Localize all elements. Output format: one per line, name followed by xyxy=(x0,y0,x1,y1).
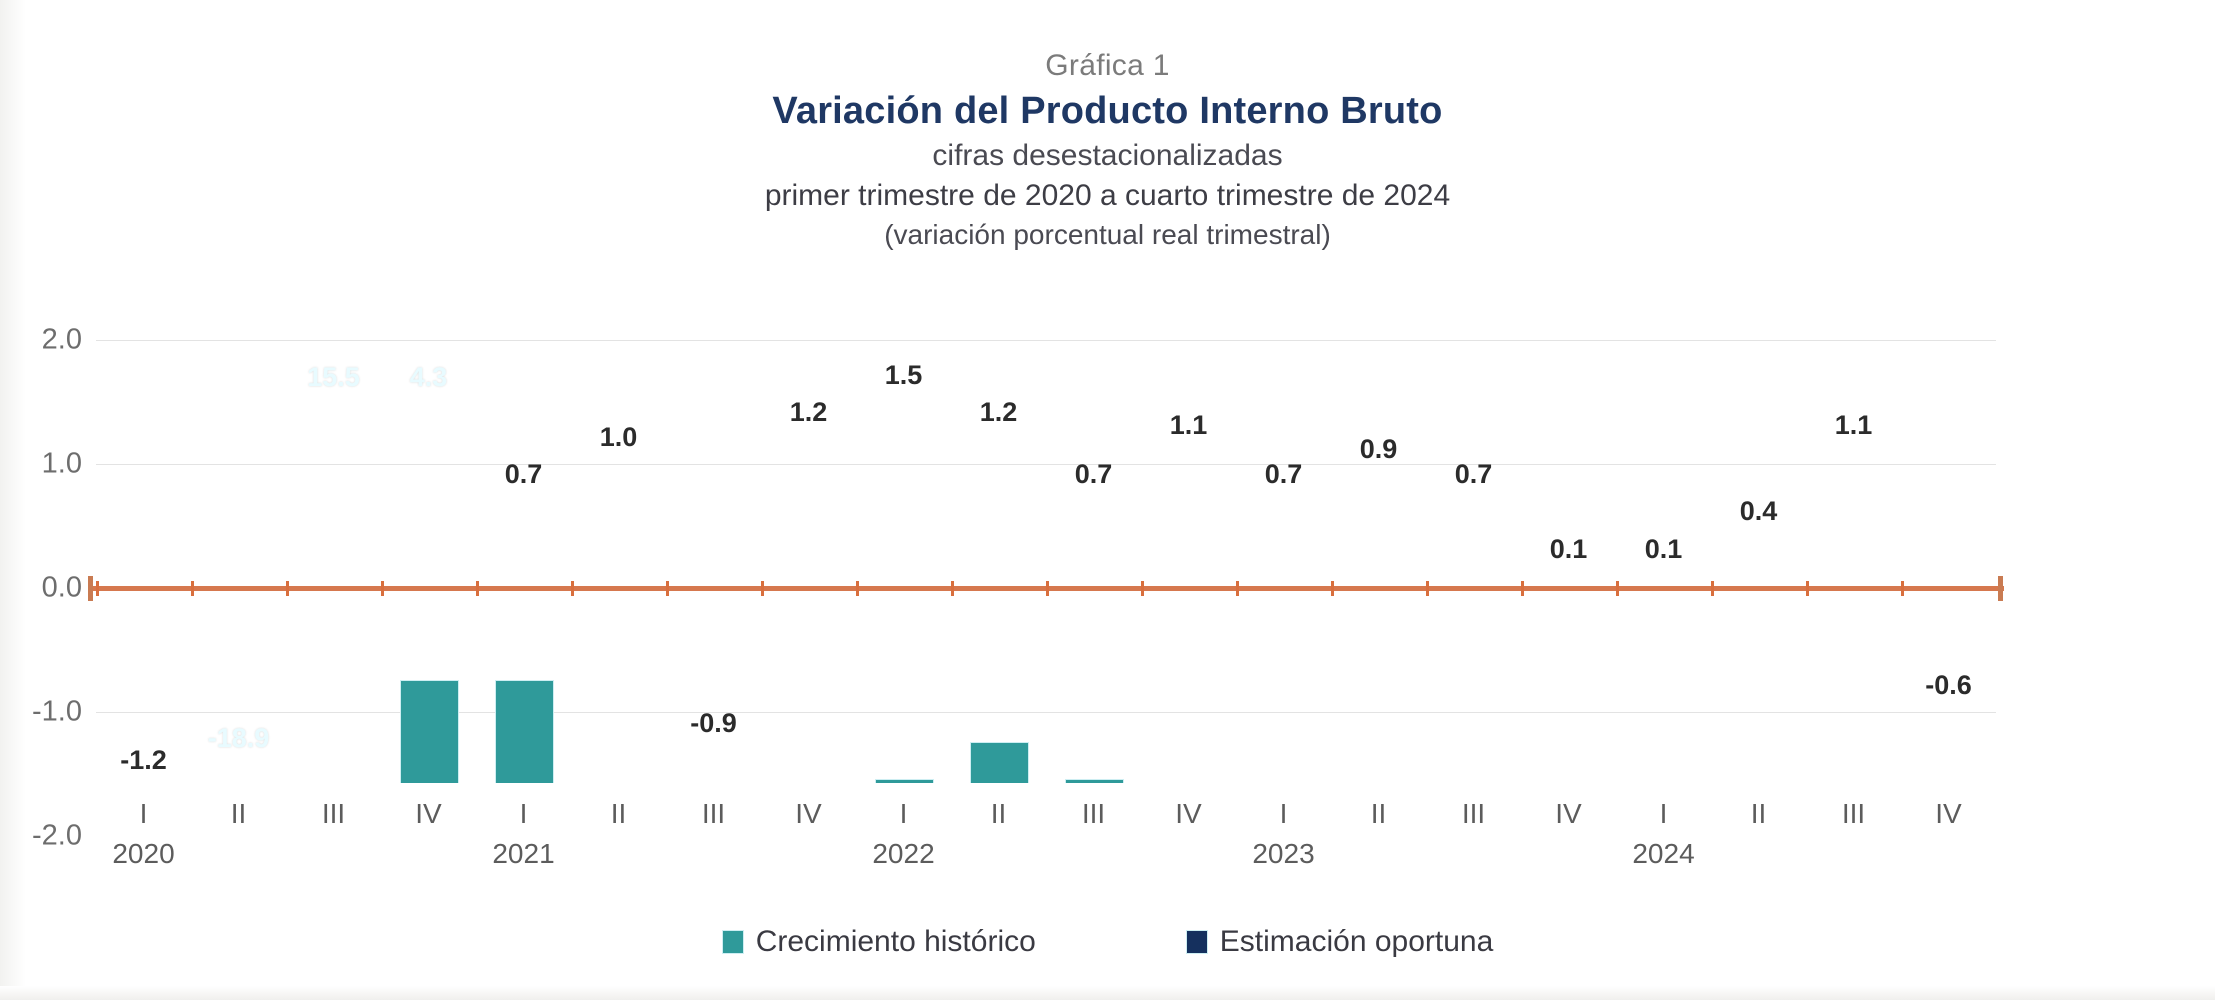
x-axis-quarter-4: I xyxy=(520,798,528,830)
x-axis-quarter-1: II xyxy=(231,798,247,830)
zero-tick-12 xyxy=(1236,581,1239,596)
legend-estimacion[interactable]: Estimación oportuna xyxy=(1186,925,1494,959)
figure-label: Gráfica 1 xyxy=(0,46,2215,86)
zero-tick-19 xyxy=(1901,581,1904,596)
bar-ii-2022[interactable] xyxy=(1065,779,1125,783)
x-axis-quarter-18: III xyxy=(1842,798,1865,830)
legend-swatch-icon-0 xyxy=(722,930,744,954)
y-axis-tick-3: -1.0 xyxy=(0,696,82,729)
value-label-iii-2023: 0.7 xyxy=(1455,459,1493,490)
value-label-ii-2023: 0.9 xyxy=(1360,434,1398,465)
zero-tick-6 xyxy=(666,581,669,596)
value-label-i-2022: 1.5 xyxy=(885,360,923,391)
bar-iii-2020[interactable] xyxy=(400,680,460,783)
zero-tick-18 xyxy=(1806,581,1809,596)
zero-tick-5 xyxy=(571,581,574,596)
value-label-ii-2021: 1.0 xyxy=(600,422,638,453)
zero-tick-11 xyxy=(1141,581,1144,596)
gdp-variation-chart: Gráfica 1 Variación del Producto Interno… xyxy=(0,0,2215,1000)
value-label-iii-2020: 15.5 xyxy=(307,362,360,393)
x-axis-quarter-19: IV xyxy=(1935,798,1961,830)
x-axis-year-2024: 2024 xyxy=(1632,838,1694,870)
value-label-iii-2022: 0.7 xyxy=(1075,459,1113,490)
y-axis-tick-0: 2.0 xyxy=(0,324,82,357)
x-axis-quarter-9: II xyxy=(991,798,1007,830)
legend-swatch-icon-1 xyxy=(1186,930,1208,954)
value-label-ii-2024: 0.4 xyxy=(1740,496,1778,527)
value-label-iii-2021: -0.9 xyxy=(690,708,737,739)
value-label-ii-2022: 1.2 xyxy=(980,397,1018,428)
value-label-ii-2020: -18.9 xyxy=(208,723,270,754)
x-axis-labels: IIIIIIIVIIIIIIIVIIIIIIIVIIIIIIIVIIIIIIIV… xyxy=(96,798,1996,888)
legend-label-1: Estimación oportuna xyxy=(1220,925,1494,959)
chart-subtitle-1: cifras desestacionalizadas xyxy=(0,136,2215,176)
x-axis-quarter-12: I xyxy=(1280,798,1288,830)
value-label-i-2020: -1.2 xyxy=(120,745,167,776)
bar-iv-2020[interactable] xyxy=(495,680,555,783)
zero-tick-10 xyxy=(1046,581,1049,596)
x-axis-quarter-11: IV xyxy=(1175,798,1201,830)
value-label-iv-2023: 0.1 xyxy=(1550,534,1588,565)
zero-tick-9 xyxy=(951,581,954,596)
x-axis-year-2023: 2023 xyxy=(1252,838,1314,870)
x-axis-quarter-8: I xyxy=(900,798,908,830)
zero-tick-2 xyxy=(286,581,289,596)
zero-tick-7 xyxy=(761,581,764,596)
y-axis-tick-2: 0.0 xyxy=(0,572,82,605)
x-axis-quarter-3: IV xyxy=(415,798,441,830)
x-axis-quarter-10: III xyxy=(1082,798,1105,830)
value-label-iv-2024: -0.6 xyxy=(1925,670,1972,701)
zero-tick-3 xyxy=(381,581,384,596)
x-axis-quarter-13: II xyxy=(1371,798,1387,830)
legend-historico[interactable]: Crecimiento histórico xyxy=(722,925,1036,959)
zero-tick-8 xyxy=(856,581,859,596)
x-axis-quarter-15: IV xyxy=(1555,798,1581,830)
zero-tick-14 xyxy=(1426,581,1429,596)
zero-tick-4 xyxy=(476,581,479,596)
zero-tick-1 xyxy=(191,581,194,596)
zero-tick-13 xyxy=(1331,581,1334,596)
x-axis-quarter-17: II xyxy=(1751,798,1767,830)
chart-legend: Crecimiento históricoEstimación oportuna xyxy=(0,925,2215,959)
zero-tick-17 xyxy=(1711,581,1714,596)
chart-main-title: Variación del Producto Interno Bruto xyxy=(0,86,2215,136)
legend-label-0: Crecimiento histórico xyxy=(756,925,1036,959)
zero-line-cap-0 xyxy=(88,576,93,601)
chart-subtitle-2: primer trimestre de 2020 a cuarto trimes… xyxy=(0,176,2215,216)
y-axis-labels: 2.01.00.0-1.0-2.0 xyxy=(0,340,82,783)
value-label-iii-2024: 1.1 xyxy=(1835,410,1873,441)
chart-subtitle-3: (variación porcentual real trimestral) xyxy=(0,216,2215,254)
x-axis-quarter-14: III xyxy=(1462,798,1485,830)
chart-title-block: Gráfica 1 Variación del Producto Interno… xyxy=(0,46,2215,254)
x-axis-year-2022: 2022 xyxy=(872,838,934,870)
x-axis-quarter-6: III xyxy=(702,798,725,830)
value-label-i-2024: 0.1 xyxy=(1645,534,1683,565)
value-label-iv-2022: 1.1 xyxy=(1170,410,1208,441)
x-axis-quarter-5: II xyxy=(611,798,627,830)
plot-bars-clip xyxy=(96,340,1996,783)
zero-tick-0 xyxy=(96,581,99,596)
x-axis-quarter-7: IV xyxy=(795,798,821,830)
bar-series-layer xyxy=(192,680,1996,783)
value-label-i-2021: 0.7 xyxy=(505,459,543,490)
zero-tick-16 xyxy=(1616,581,1619,596)
y-axis-tick-4: -2.0 xyxy=(0,820,82,853)
x-axis-year-2021: 2021 xyxy=(492,838,554,870)
x-axis-quarter-16: I xyxy=(1660,798,1668,830)
x-axis-quarter-2: III xyxy=(322,798,345,830)
x-axis-quarter-0: I xyxy=(140,798,148,830)
zero-tick-15 xyxy=(1521,581,1524,596)
value-label-iv-2020: 4.3 xyxy=(410,362,448,393)
value-label-iv-2021: 1.2 xyxy=(790,397,828,428)
x-axis-year-2020: 2020 xyxy=(112,838,174,870)
value-label-i-2023: 0.7 xyxy=(1265,459,1303,490)
bar-i-2022[interactable] xyxy=(970,742,1030,783)
bar-iv-2021[interactable] xyxy=(875,779,935,783)
y-axis-tick-1: 1.0 xyxy=(0,448,82,481)
zero-line-cap-1 xyxy=(1998,576,2003,601)
